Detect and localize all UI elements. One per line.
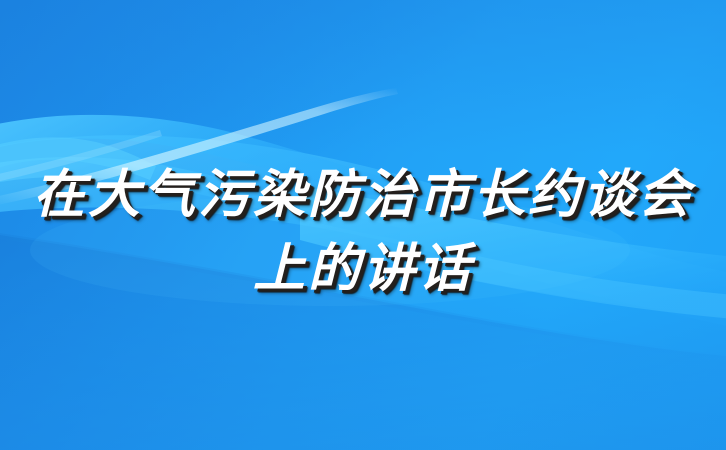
banner-title: 在大气污染防治市长约谈会 上的讲话: [0, 163, 726, 301]
title-line-2: 上的讲话: [0, 237, 726, 301]
title-line-1: 在大气污染防治市长约谈会: [0, 163, 726, 227]
title-banner: 在大气污染防治市长约谈会 上的讲话: [0, 0, 726, 450]
